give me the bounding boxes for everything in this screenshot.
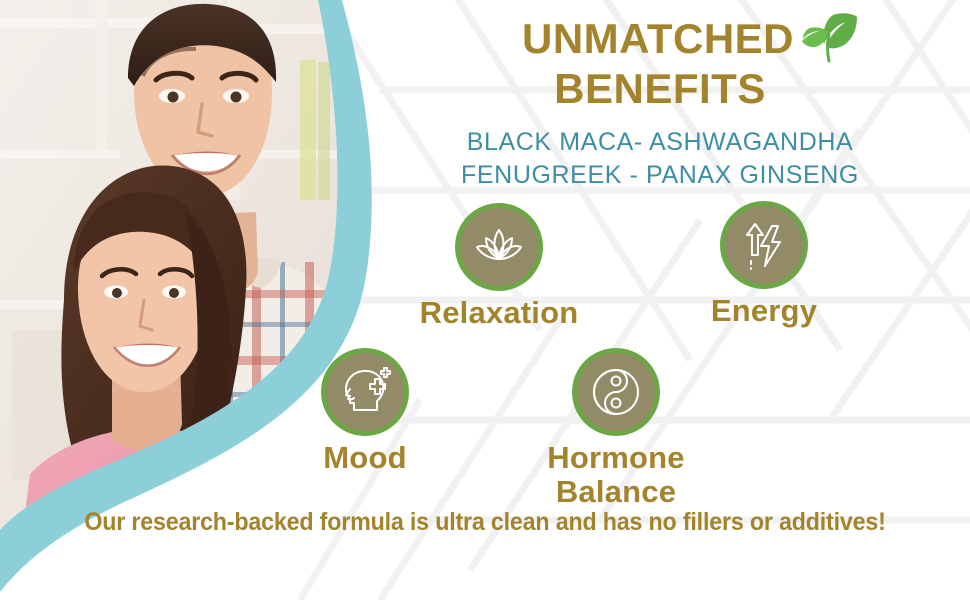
lotus-flower-icon xyxy=(473,221,525,273)
unmatched-benefits-banner: UNMATCHED BENEFITS BLACK MACA- ASHWAGAND… xyxy=(0,0,970,600)
yin-yang-icon xyxy=(589,365,643,419)
benefit-label-energy: Energy xyxy=(659,294,869,328)
benefit-label-hormone-line-1: Hormone xyxy=(511,441,721,475)
benefit-label-hormone-line-2: Balance xyxy=(511,475,721,509)
benefit-circle-hormone-balance xyxy=(572,348,660,436)
benefit-label-relaxation: Relaxation xyxy=(394,296,604,330)
head-profile-plus-icon xyxy=(338,365,392,419)
benefit-label-hormone-balance: Hormone Balance xyxy=(511,441,721,509)
benefit-circle-mood xyxy=(321,348,409,436)
headline-line-1: UNMATCHED xyxy=(522,15,794,62)
benefit-mood: Mood xyxy=(260,348,470,475)
benefit-relaxation: Relaxation xyxy=(394,203,604,330)
arrow-up-lightning-bolt-icon xyxy=(738,219,790,271)
benefit-energy: Energy xyxy=(659,201,869,328)
headline-block: UNMATCHED BENEFITS xyxy=(350,14,970,114)
headline-line-1-wrapper: UNMATCHED xyxy=(350,14,970,64)
leaf-icon xyxy=(798,6,860,68)
benefit-hormone-balance: Hormone Balance xyxy=(511,348,721,509)
tagline: Our research-backed formula is ultra cle… xyxy=(34,508,936,537)
benefit-circle-relaxation xyxy=(455,203,543,291)
benefit-circle-energy xyxy=(720,201,808,289)
benefit-label-mood: Mood xyxy=(260,441,470,475)
ingredients-block: BLACK MACA- ASHWAGANDHA FENUGREEK - PANA… xyxy=(350,126,970,192)
ingredients-line-2: FENUGREEK - PANAX GINSENG xyxy=(350,159,970,192)
headline-line-2: BENEFITS xyxy=(350,64,970,114)
ingredients-line-1: BLACK MACA- ASHWAGANDHA xyxy=(350,126,970,159)
